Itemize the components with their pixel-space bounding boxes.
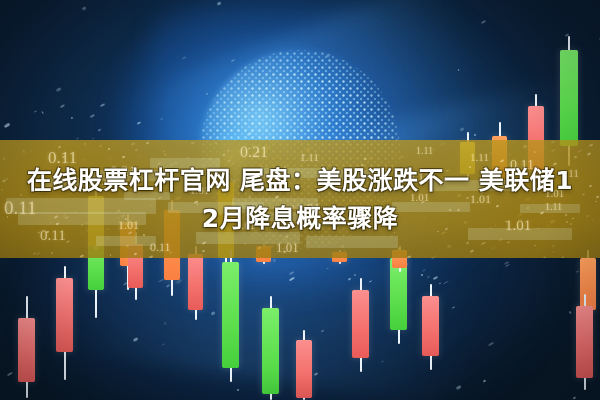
news-banner-image: 0.111.011.010.110.111.011.010.210.211.01… [0, 0, 600, 400]
vignette [0, 0, 600, 400]
